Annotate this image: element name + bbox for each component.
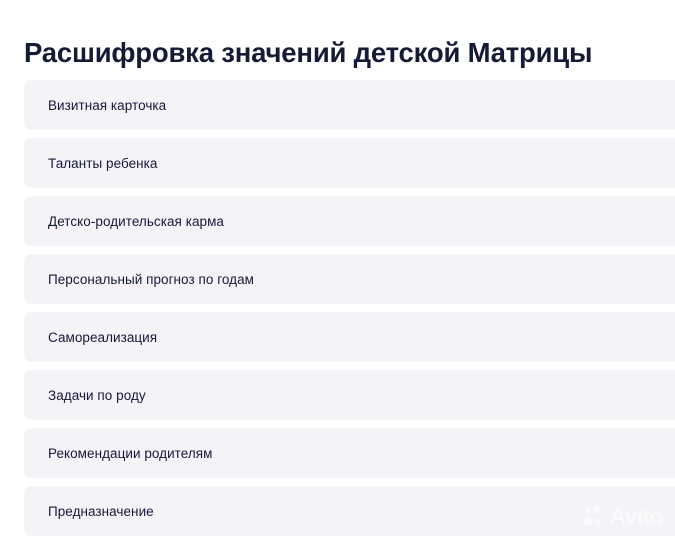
page-root: Расшифровка значений детской Матрицы Виз…	[0, 0, 675, 540]
list-item[interactable]: Предназначение	[24, 486, 675, 536]
list-item-label: Таланты ребенка	[24, 156, 158, 171]
list-item[interactable]: Персональный прогноз по годам	[24, 254, 675, 304]
list-item-label: Рекомендации родителям	[24, 446, 212, 461]
list-item[interactable]: Визитная карточка	[24, 80, 675, 130]
list-item-label: Задачи по роду	[24, 388, 146, 403]
page-title: Расшифровка значений детской Матрицы	[24, 36, 675, 70]
topics-list: Визитная карточка Таланты ребенка Детско…	[24, 80, 675, 540]
list-item[interactable]: Самореализация	[24, 312, 675, 362]
list-item-label: Персональный прогноз по годам	[24, 272, 254, 287]
list-item[interactable]: Задачи по роду	[24, 370, 675, 420]
list-item-label: Визитная карточка	[24, 98, 166, 113]
list-item-label: Детско-родительская карма	[24, 214, 224, 229]
list-item[interactable]: Детско-родительская карма	[24, 196, 675, 246]
list-item-label: Самореализация	[24, 330, 157, 345]
list-item[interactable]: Рекомендации родителям	[24, 428, 675, 478]
list-item[interactable]: Таланты ребенка	[24, 138, 675, 188]
list-item-label: Предназначение	[24, 504, 154, 519]
